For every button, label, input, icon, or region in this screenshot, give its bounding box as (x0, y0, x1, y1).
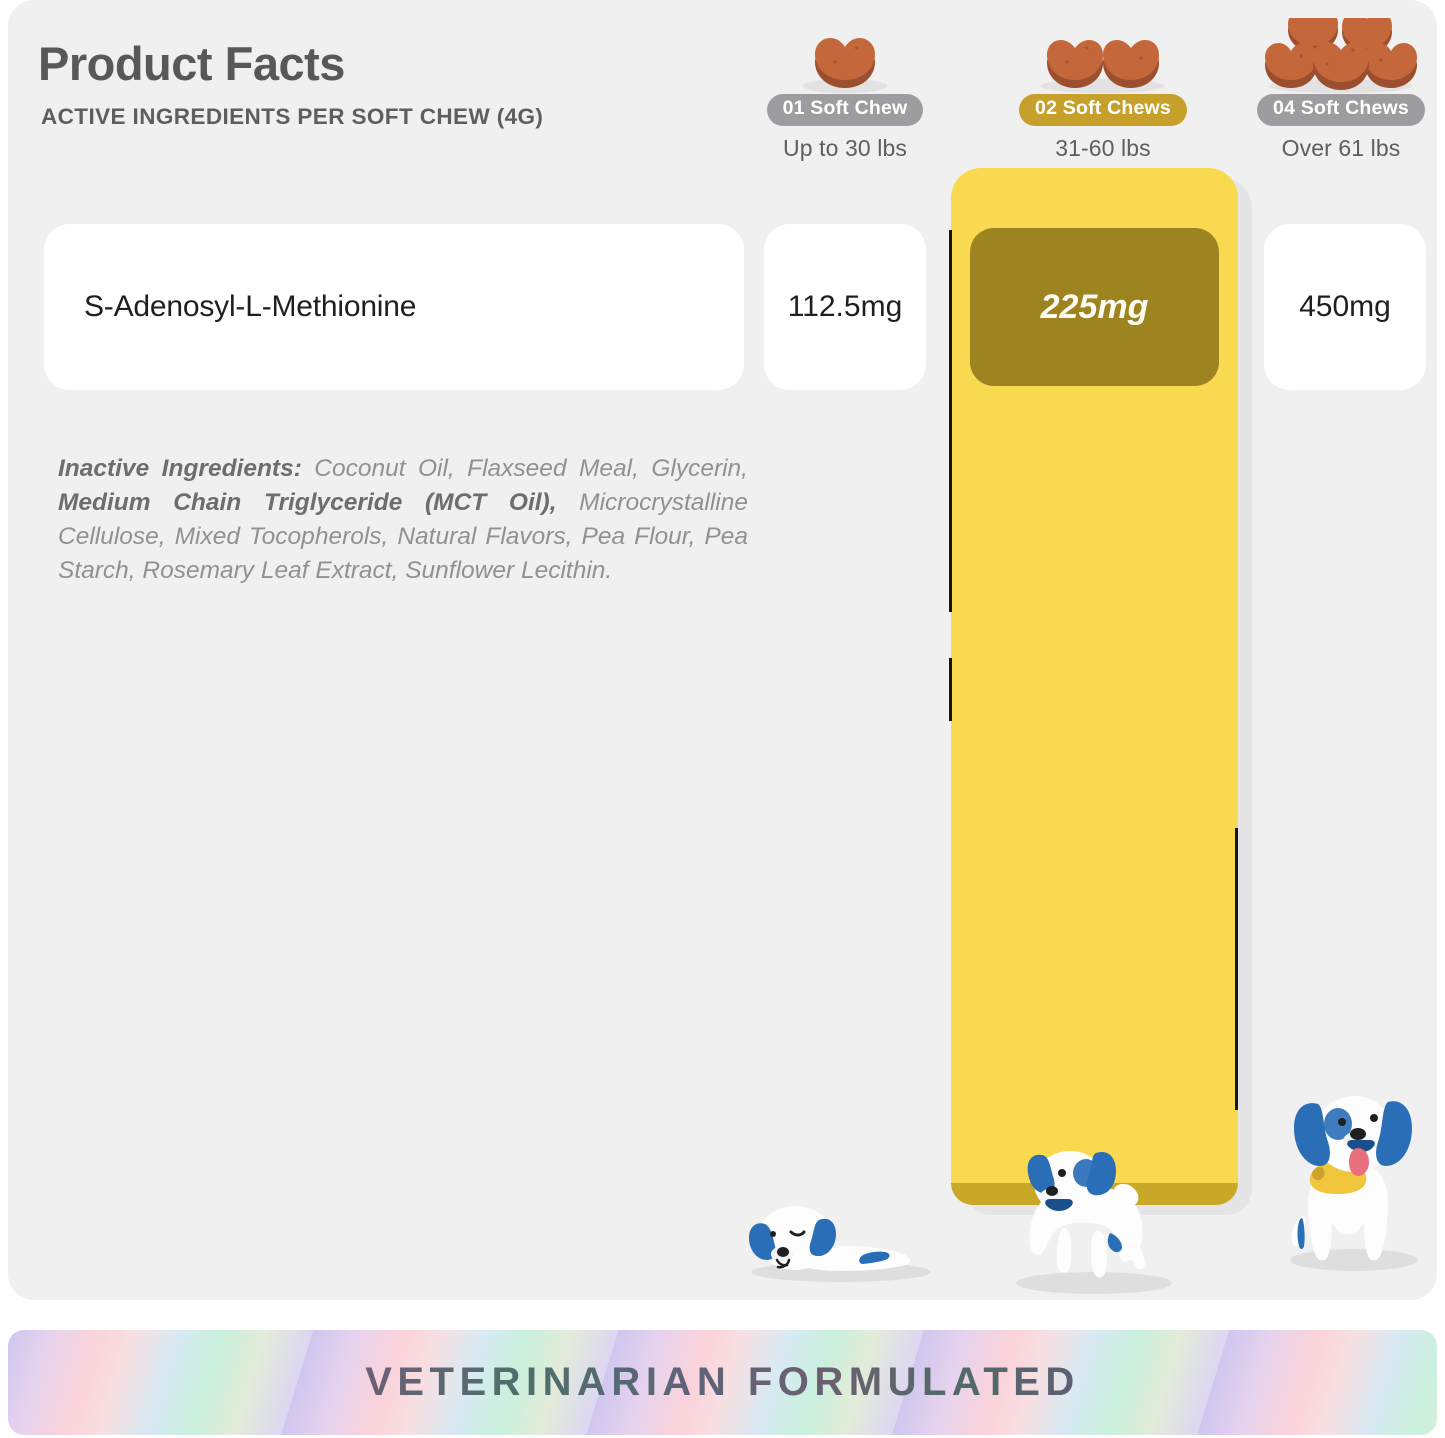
ingredient-name-card: S-Adenosyl-L-Methionine (44, 224, 744, 390)
two-heart-chews-icon (988, 18, 1218, 94)
page-title: Product Facts (38, 36, 345, 91)
inactive-ingredients-label: Inactive Ingredients: (58, 455, 302, 482)
large-dog-sitting-icon (1270, 1078, 1437, 1279)
ingredient-value-cell-1: 112.5mg (764, 224, 926, 390)
ingredient-value-cell-3: 450mg (1264, 224, 1426, 390)
dose-column-header-2: 02 Soft Chews 31-60 lbs (988, 18, 1218, 162)
column-edge-line (949, 658, 952, 721)
dose-weight-label: Up to 30 lbs (730, 135, 960, 162)
inactive-ingredients-emphasis: Medium Chain Triglyceride (MCT Oil), (58, 489, 557, 516)
veterinarian-formulated-banner: VETERINARIAN FORMULATED (8, 1330, 1437, 1435)
dose-column-header-1: 01 Soft Chew Up to 30 lbs (730, 18, 960, 162)
dose-column-header-3: 04 Soft Chews Over 61 lbs (1226, 18, 1437, 162)
column-edge-line (1235, 828, 1238, 1110)
dose-weight-label: 31-60 lbs (988, 135, 1218, 162)
dose-weight-label: Over 61 lbs (1226, 135, 1437, 162)
small-dog-lying-icon (743, 1176, 939, 1287)
inactive-ingredients-text: Inactive Ingredients: Coconut Oil, Flaxs… (58, 452, 748, 588)
inactive-ingredients-part1: Coconut Oil, Flaxseed Meal, Glycerin, (302, 455, 748, 482)
column-edge-line (949, 230, 952, 612)
product-facts-panel: Product Facts ACTIVE INGREDIENTS PER SOF… (8, 0, 1437, 1300)
four-heart-chews-icon (1226, 18, 1437, 94)
one-heart-chew-icon (730, 18, 960, 94)
dose-badge-highlighted: 02 Soft Chews (1019, 94, 1187, 126)
ingredient-value-cell-2-highlighted: 225mg (970, 228, 1219, 386)
medium-dog-standing-icon (996, 1125, 1192, 1300)
banner-text: VETERINARIAN FORMULATED (365, 1360, 1080, 1405)
dose-badge: 04 Soft Chews (1257, 94, 1425, 126)
ingredient-name: S-Adenosyl-L-Methionine (84, 290, 416, 324)
dose-badge: 01 Soft Chew (767, 94, 924, 126)
page-subtitle: ACTIVE INGREDIENTS PER SOFT CHEW (4G) (41, 104, 543, 130)
